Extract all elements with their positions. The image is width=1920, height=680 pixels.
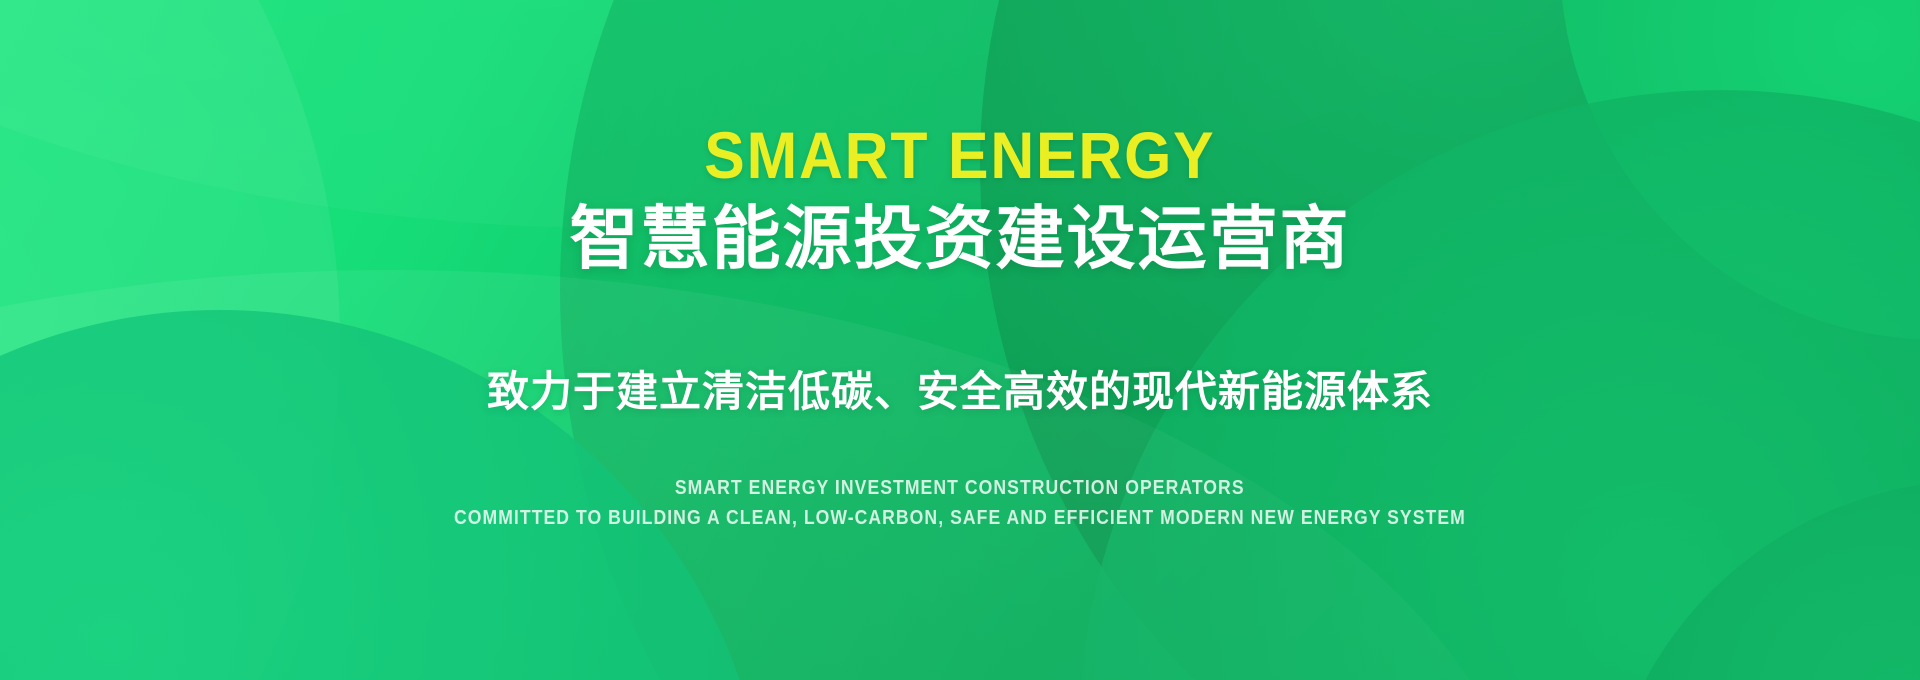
headline-chinese: 智慧能源投资建设运营商 [570,202,1351,275]
banner-content: SMART ENERGY 智慧能源投资建设运营商 致力于建立清洁低碳、安全高效的… [0,0,1920,680]
subtitle-chinese: 致力于建立清洁低碳、安全高效的现代新能源体系 [487,369,1433,415]
headline-english: SMART ENERGY [704,122,1215,188]
subtitle-english-line-2: COMMITTED TO BUILDING A CLEAN, LOW-CARBO… [454,506,1466,531]
subtitle-english-line-1: SMART ENERGY INVESTMENT CONSTRUCTION OPE… [675,476,1245,501]
hero-banner: SMART ENERGY 智慧能源投资建设运营商 致力于建立清洁低碳、安全高效的… [0,0,1920,680]
